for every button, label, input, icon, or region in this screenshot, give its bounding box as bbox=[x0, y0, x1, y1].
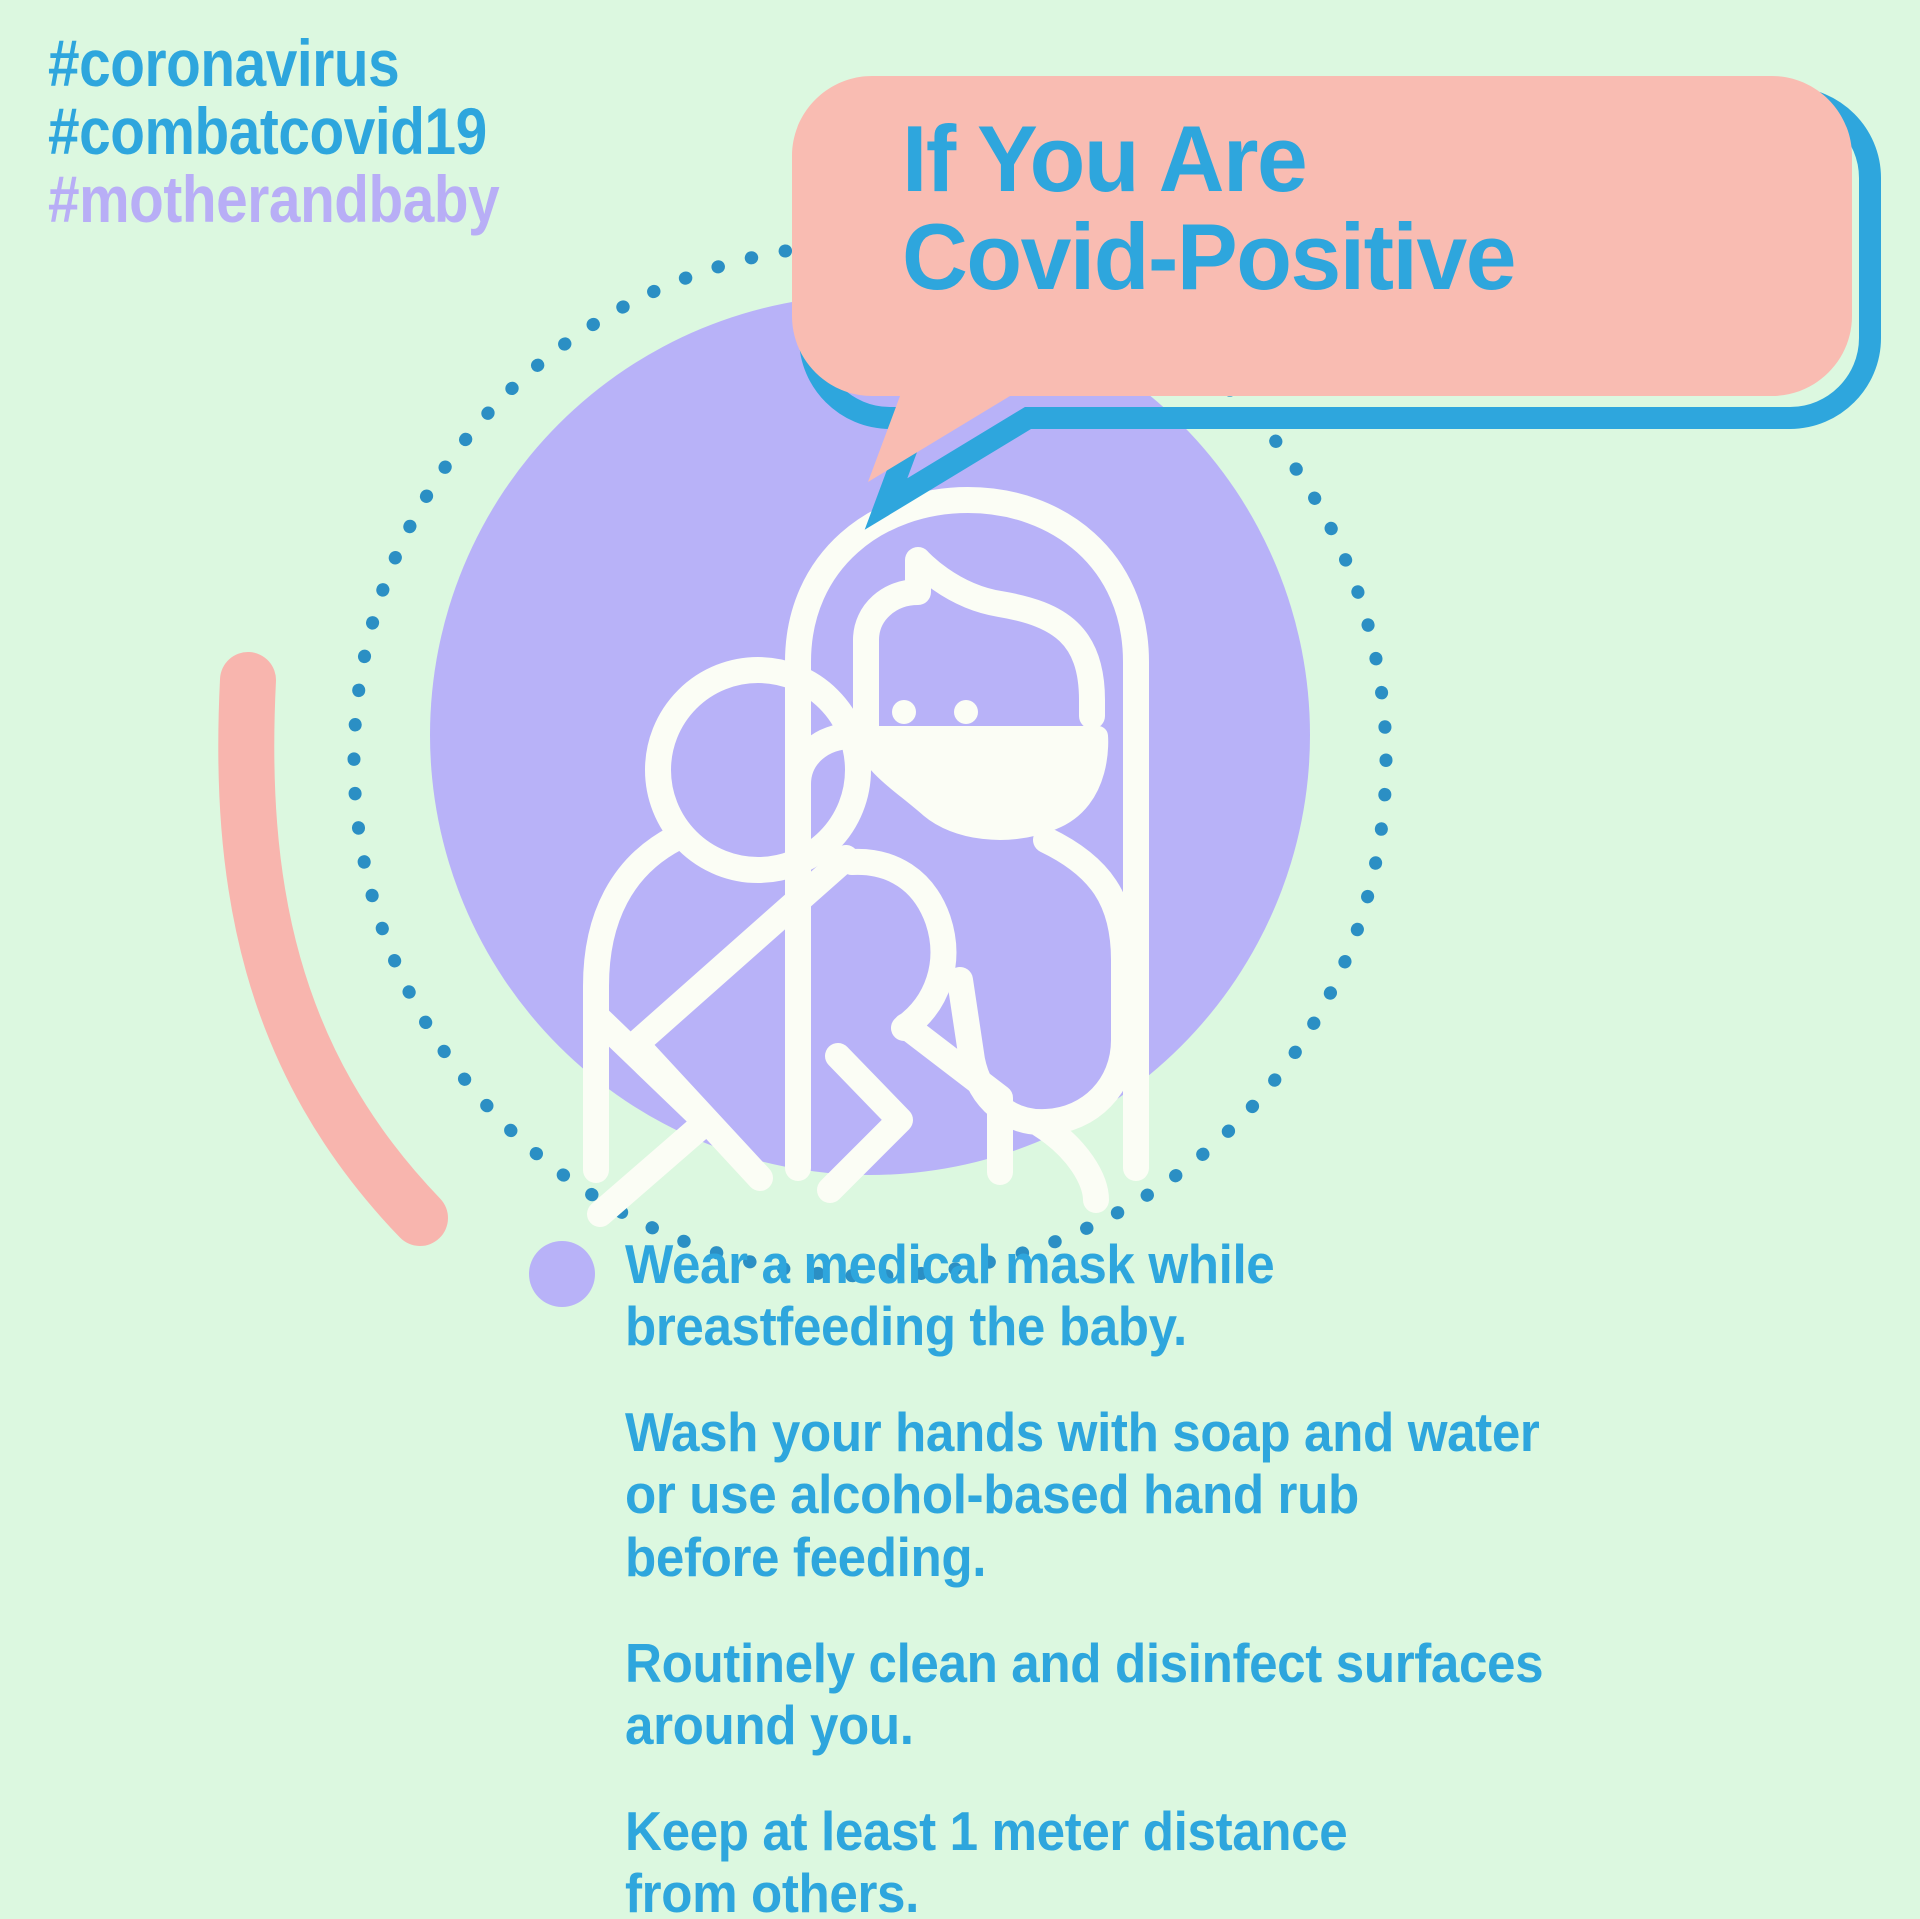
baby-limb-2 bbox=[600, 1020, 706, 1214]
hashtag-combatcovid19: #combatcovid19 bbox=[48, 98, 499, 166]
poster-headline: If You Are Covid-Positive bbox=[902, 110, 1775, 306]
headline-line-2: Covid-Positive bbox=[902, 208, 1775, 306]
mother-arm bbox=[1046, 840, 1124, 1122]
bullet-dot bbox=[529, 1241, 595, 1307]
mother-lap-line bbox=[906, 1026, 1000, 1172]
tip-line: Wear a medical mask while bbox=[625, 1233, 1741, 1295]
baby-body bbox=[596, 838, 676, 1170]
baby-head bbox=[658, 670, 858, 870]
purple-circle-backdrop bbox=[430, 295, 1310, 1175]
headline-line-1: If You Are bbox=[902, 110, 1775, 208]
tip-line: before feeding. bbox=[625, 1526, 1741, 1588]
baby-limb-3 bbox=[830, 1056, 900, 1190]
tip-line: or use alcohol-based hand rub bbox=[625, 1463, 1741, 1525]
tip-keep-distance: Keep at least 1 meter distance from othe… bbox=[625, 1800, 1741, 1919]
mother-eye-right bbox=[954, 700, 978, 724]
medical-mask bbox=[866, 736, 1098, 830]
hashtag-motherandbaby: #motherandbaby bbox=[48, 166, 499, 234]
covid-mother-baby-infographic: #coronavirus #combatcovid19 #motherandba… bbox=[0, 0, 1920, 1919]
tip-line: breastfeeding the baby. bbox=[625, 1295, 1741, 1357]
mother-hair-outline bbox=[798, 500, 1136, 1168]
mother-knee bbox=[1040, 1124, 1096, 1200]
tip-line: around you. bbox=[625, 1694, 1741, 1756]
tip-wear-mask: Wear a medical mask while breastfeeding … bbox=[625, 1233, 1741, 1357]
mother-and-baby-illustration bbox=[596, 500, 1136, 1214]
hashtag-group: #coronavirus #combatcovid19 #motherandba… bbox=[48, 30, 573, 234]
baby-limb-1 bbox=[636, 858, 846, 1178]
mother-supporting-arm bbox=[852, 862, 943, 1028]
tip-line: Wash your hands with soap and water bbox=[625, 1401, 1741, 1463]
hashtag-coronavirus: #coronavirus bbox=[48, 30, 499, 98]
tip-line: Keep at least 1 meter distance bbox=[625, 1800, 1741, 1862]
tips-list: Wear a medical mask while breastfeeding … bbox=[625, 1233, 1825, 1919]
mother-face-outline bbox=[798, 560, 1092, 784]
speech-bubble: If You Are Covid-Positive bbox=[840, 48, 1880, 408]
tip-line: Routinely clean and disinfect surfaces bbox=[625, 1632, 1741, 1694]
pink-arc-decoration bbox=[246, 680, 420, 1218]
tip-line: from others. bbox=[625, 1862, 1741, 1919]
tip-clean-surfaces: Routinely clean and disinfect surfaces a… bbox=[625, 1632, 1741, 1756]
mother-torso bbox=[960, 980, 1046, 1122]
mother-eye-left bbox=[892, 700, 916, 724]
tip-wash-hands: Wash your hands with soap and water or u… bbox=[625, 1401, 1741, 1587]
